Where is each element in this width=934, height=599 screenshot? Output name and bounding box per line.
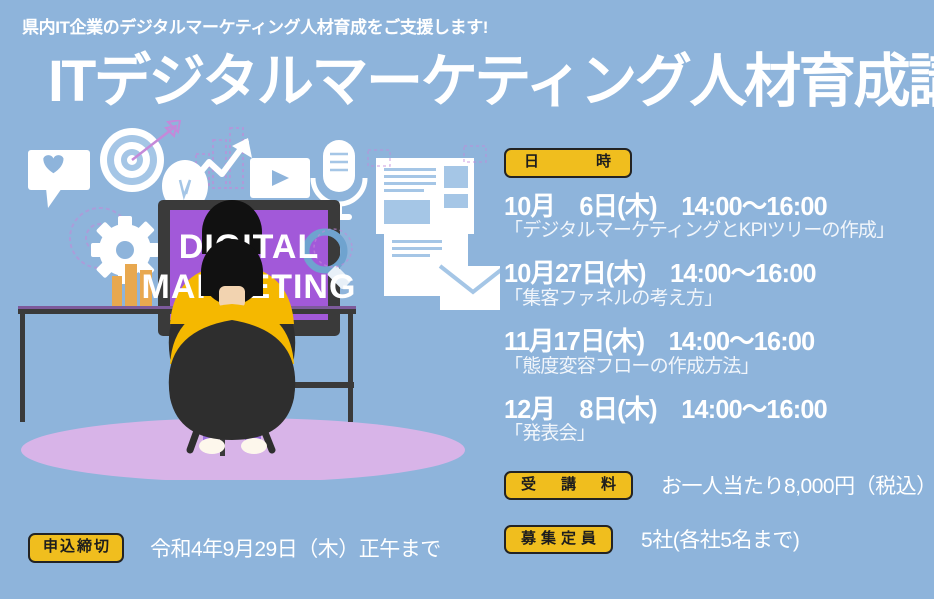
session-topic: 「集客ファネルの考え方」 bbox=[504, 288, 934, 311]
session-date: 10月27日(木) 14:00〜16:00 bbox=[504, 259, 921, 289]
deadline-row: 申込締切 令和4年9月29日（木）正午まで bbox=[28, 533, 441, 563]
session-topic: 「デジタルマーケティングとKPIツリーの作成」 bbox=[504, 220, 934, 243]
capacity-row: 募集定員 5社(各社5名まで) bbox=[504, 524, 934, 554]
session-topic: 「態度変容フローの作成方法」 bbox=[504, 356, 934, 379]
poster-subtitle: 県内IT企業のデジタルマーケティング人材育成をご支援します! bbox=[22, 13, 488, 38]
session-topic: 「発表会」 bbox=[504, 423, 934, 446]
session-item: 10月27日(木) 14:00〜16:00 「集客ファネルの考え方」 bbox=[504, 259, 934, 311]
session-list: 10月 6日(木) 14:00〜16:00 「デジタルマーケティングとKPIツリ… bbox=[504, 192, 934, 447]
deadline-badge: 申込締切 bbox=[28, 533, 124, 563]
fee-value: お一人当たり8,000円（税込） bbox=[661, 470, 934, 500]
document-layout-icon bbox=[368, 146, 486, 234]
fee-row: 受 講 料 お一人当たり8,000円（税込） bbox=[504, 470, 934, 500]
poster-root: 県内IT企業のデジタルマーケティング人材育成をご支援します! ITデジタルマーケ… bbox=[0, 0, 934, 599]
capacity-badge: 募集定員 bbox=[504, 525, 613, 555]
session-date: 12月 8日(木) 14:00〜16:00 bbox=[504, 395, 921, 425]
envelope-icon bbox=[440, 266, 500, 310]
illustration: DIGITAL MARKETING bbox=[0, 120, 500, 480]
session-item: 12月 8日(木) 14:00〜16:00 「発表会」 bbox=[504, 395, 934, 447]
info-column: 日 時 10月 6日(木) 14:00〜16:00 「デジタルマーケティングとK… bbox=[504, 148, 934, 554]
session-item: 10月 6日(木) 14:00〜16:00 「デジタルマーケティングとKPIツリ… bbox=[504, 192, 934, 244]
session-date: 10月 6日(木) 14:00〜16:00 bbox=[504, 192, 921, 222]
session-date: 11月17日(木) 14:00〜16:00 bbox=[504, 327, 921, 357]
fee-badge: 受 講 料 bbox=[504, 471, 633, 501]
session-item: 11月17日(木) 14:00〜16:00 「態度変容フローの作成方法」 bbox=[504, 327, 934, 379]
capacity-value: 5社(各社5名まで) bbox=[641, 524, 799, 554]
schedule-badge: 日 時 bbox=[504, 148, 632, 178]
deadline-value: 令和4年9月29日（木）正午まで bbox=[150, 533, 441, 563]
play-video-icon bbox=[250, 158, 310, 198]
page-title: ITデジタルマーケティング人材育成講座 bbox=[48, 52, 934, 113]
heart-speech-bubble-icon bbox=[28, 150, 90, 208]
